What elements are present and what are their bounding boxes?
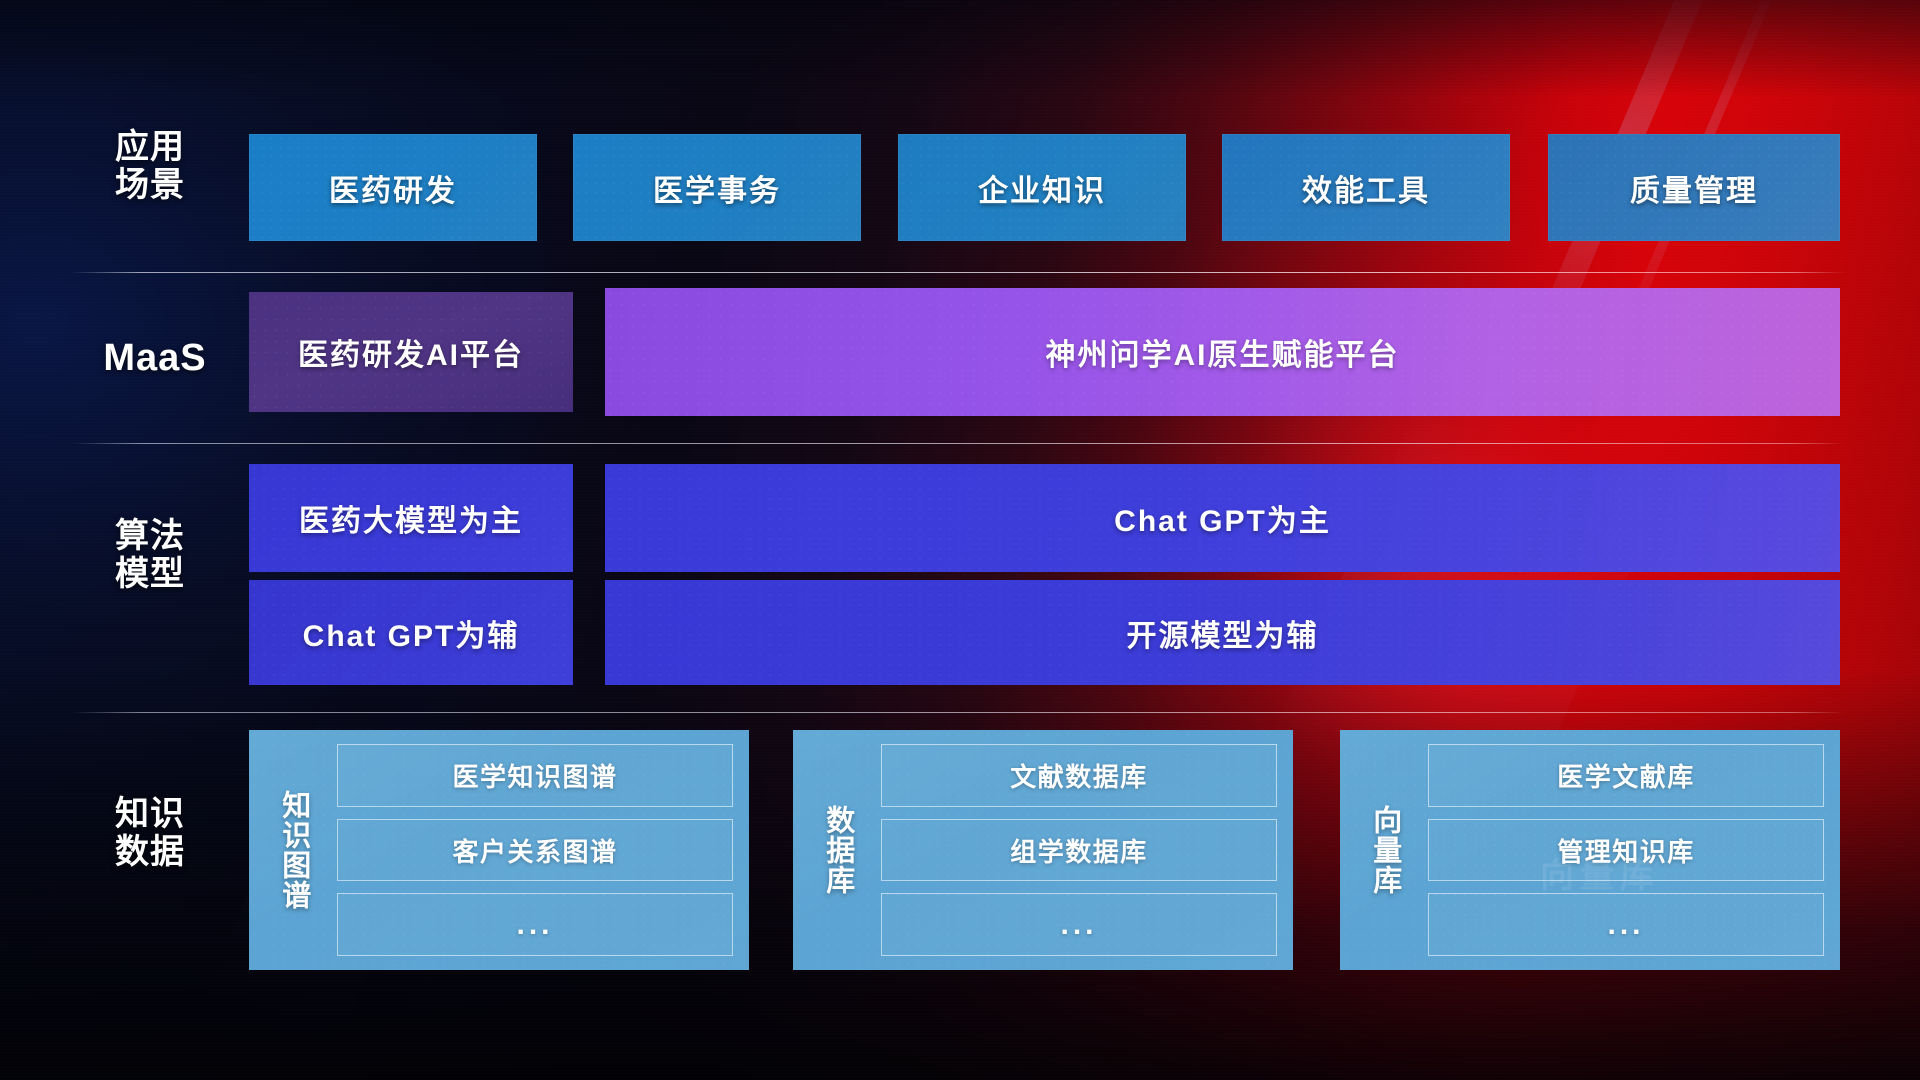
- algo-box-chatgpt-primary[interactable]: Chat GPT为主: [605, 464, 1840, 572]
- algo-box-label: Chat GPT为辅: [303, 611, 520, 655]
- algo-box-label: Chat GPT为主: [1114, 496, 1331, 540]
- knowledge-card-vertical-title: 向量库: [1354, 744, 1414, 956]
- maas-box-label: 医药研发AI平台: [298, 330, 524, 374]
- knowledge-item-label: ...: [1060, 908, 1097, 942]
- knowledge-card-database[interactable]: 数据库 文献数据库 组学数据库 ...: [793, 730, 1293, 970]
- knowledge-card-items: 医学知识图谱 客户关系图谱 ...: [337, 744, 733, 956]
- app-box-enterprise-knowledge[interactable]: 企业知识: [898, 134, 1186, 241]
- knowledge-item[interactable]: 文献数据库: [881, 744, 1277, 807]
- knowledge-card-knowledge-graph[interactable]: 知识图谱 医学知识图谱 客户关系图谱 ...: [249, 730, 749, 970]
- row-label-line-1: 知识: [80, 795, 220, 833]
- knowledge-item-label: 管理知识库: [1557, 832, 1695, 869]
- knowledge-card-vertical-title: 知识图谱: [263, 744, 323, 956]
- row-label-line-2: 数据: [80, 833, 220, 871]
- knowledge-item[interactable]: 医学文献库: [1428, 744, 1824, 807]
- app-box-label: 企业知识: [978, 166, 1106, 210]
- knowledge-card-vertical-title-text: 数据库: [819, 805, 854, 895]
- knowledge-card-items: 文献数据库 组学数据库 ...: [881, 744, 1277, 956]
- app-box-medicine-rd[interactable]: 医药研发: [249, 134, 537, 241]
- maas-box-label: 神州问学AI原生赋能平台: [1046, 330, 1400, 374]
- maas-box-shenzhou-platform[interactable]: 神州问学AI原生赋能平台: [605, 288, 1840, 416]
- app-box-medical-affairs[interactable]: 医学事务: [573, 134, 861, 241]
- knowledge-card-vertical-title-text: 向量库: [1366, 805, 1401, 895]
- knowledge-item[interactable]: 客户关系图谱: [337, 819, 733, 882]
- algo-box-chatgpt-secondary[interactable]: Chat GPT为辅: [249, 580, 573, 685]
- app-box-efficiency-tools[interactable]: 效能工具: [1222, 134, 1510, 241]
- row-label-algorithm-models: 算法 模型: [80, 517, 220, 593]
- diagram-stage: 应用 场景 医药研发 医学事务 企业知识 效能工具 质量管理 MaaS 医药研发…: [0, 0, 1920, 1080]
- knowledge-item[interactable]: 管理知识库: [1428, 819, 1824, 882]
- knowledge-item-more[interactable]: ...: [337, 893, 733, 956]
- row-label-maas: MaaS: [80, 337, 230, 380]
- knowledge-card-vertical-title-text: 知识图谱: [275, 790, 310, 910]
- app-box-quality-management[interactable]: 质量管理: [1548, 134, 1840, 241]
- knowledge-card-vertical-title: 数据库: [807, 744, 867, 956]
- knowledge-item-label: ...: [1607, 908, 1644, 942]
- knowledge-item-label: 医学文献库: [1557, 757, 1695, 794]
- divider-algorithm-knowledge: [72, 712, 1844, 713]
- app-box-label: 医学事务: [653, 166, 781, 210]
- knowledge-item[interactable]: 组学数据库: [881, 819, 1277, 882]
- knowledge-item-label: 客户关系图谱: [452, 832, 617, 869]
- row-label-line-2: 场景: [80, 166, 220, 204]
- algo-box-label: 医药大模型为主: [299, 496, 523, 540]
- knowledge-item-label: 文献数据库: [1010, 757, 1148, 794]
- row-label-line-2: 模型: [80, 555, 220, 593]
- knowledge-card-items: 医学文献库 管理知识库 ...: [1428, 744, 1824, 956]
- app-box-label: 质量管理: [1630, 166, 1758, 210]
- knowledge-item-label: 医学知识图谱: [452, 757, 617, 794]
- knowledge-item-label: 组学数据库: [1010, 832, 1148, 869]
- maas-box-medicine-ai-platform[interactable]: 医药研发AI平台: [249, 292, 573, 412]
- knowledge-item[interactable]: 医学知识图谱: [337, 744, 733, 807]
- algo-box-label: 开源模型为辅: [1127, 611, 1319, 655]
- knowledge-item-more[interactable]: ...: [881, 893, 1277, 956]
- row-label-line-1: 应用: [80, 128, 220, 166]
- row-label-text: MaaS: [80, 337, 230, 380]
- divider-maas-algorithm: [72, 443, 1844, 444]
- row-label-line-1: 算法: [80, 517, 220, 555]
- knowledge-card-vector-store[interactable]: 向量库 向量库 医学文献库 管理知识库 ...: [1340, 730, 1840, 970]
- app-box-label: 医药研发: [329, 166, 457, 210]
- app-box-label: 效能工具: [1302, 166, 1430, 210]
- row-label-application-scenarios: 应用 场景: [80, 128, 220, 204]
- algo-box-medicine-llm-primary[interactable]: 医药大模型为主: [249, 464, 573, 572]
- algo-box-opensource-secondary[interactable]: 开源模型为辅: [605, 580, 1840, 685]
- knowledge-item-label: ...: [516, 908, 553, 942]
- row-label-knowledge-data: 知识 数据: [80, 795, 220, 871]
- knowledge-item-more[interactable]: ...: [1428, 893, 1824, 956]
- divider-application-maas: [72, 272, 1844, 273]
